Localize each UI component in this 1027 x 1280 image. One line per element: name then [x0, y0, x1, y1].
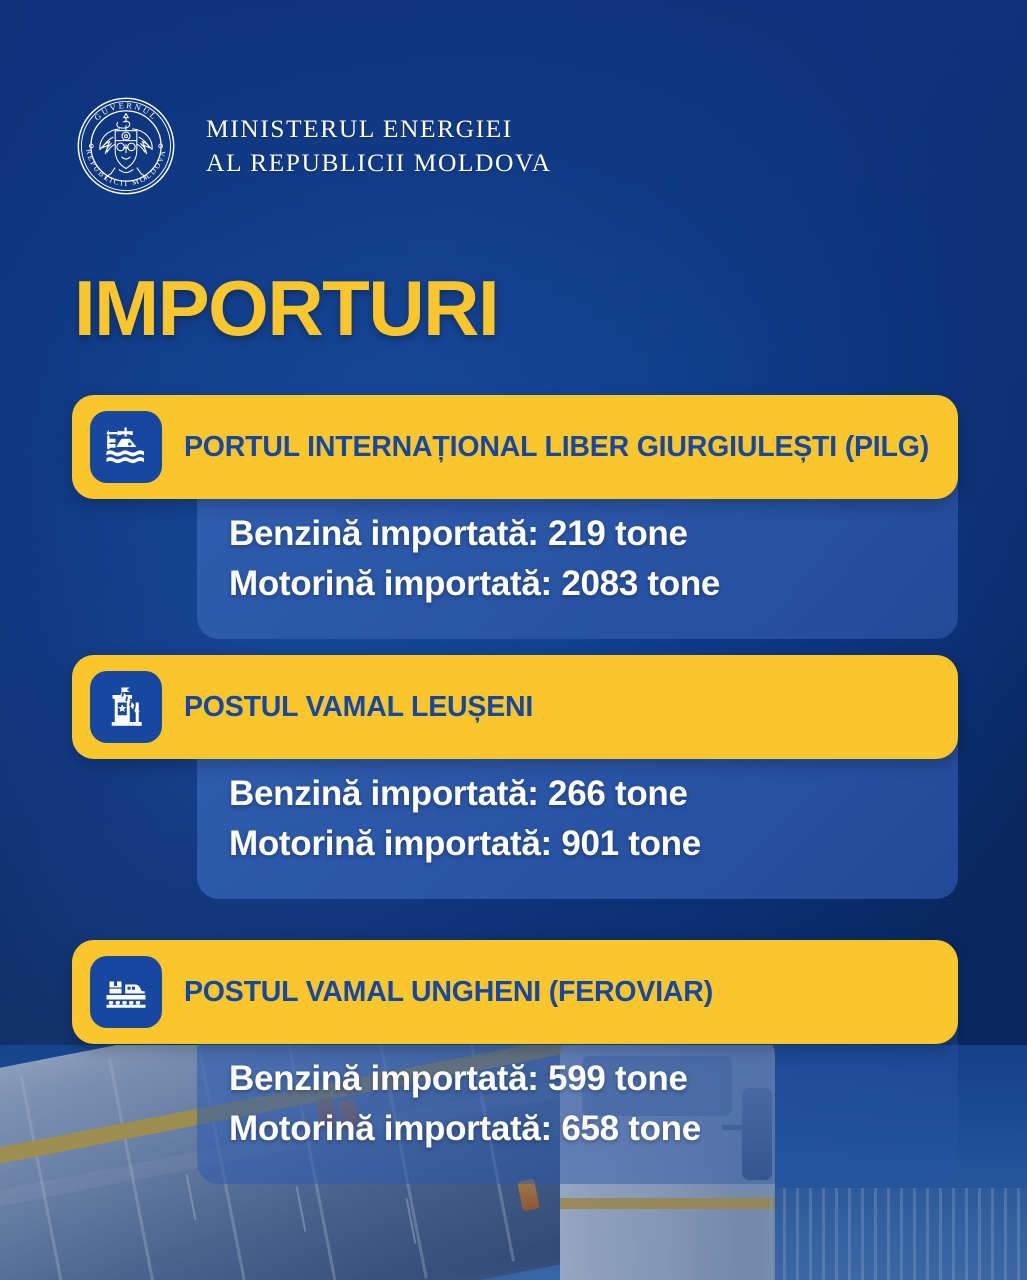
banner-leuseni[interactable]: POSTUL VAMAL LEUȘENI — [72, 655, 958, 759]
banner-title: POSTUL VAMAL LEUȘENI — [184, 691, 533, 724]
freight-train-icon — [90, 956, 162, 1028]
moldova-government-seal-icon: GUVERNUL REPUBLICII MOLDOVA — [72, 92, 180, 200]
ministry-line-2: AL REPUBLICII MOLDOVA — [206, 146, 552, 180]
metric-line-diesel: Motorină importată: 901 tone — [229, 819, 958, 869]
metric-line-diesel: Motorină importată: 2083 tone — [229, 559, 958, 609]
banner-ungheni[interactable]: POSTUL VAMAL UNGHENI (FEROVIAR) — [72, 940, 958, 1044]
banner-title: POSTUL VAMAL UNGHENI (FEROVIAR) — [184, 976, 713, 1009]
banner-pilg[interactable]: PORTUL INTERNAȚIONAL LIBER GIURGIULEȘTI … — [72, 395, 958, 499]
metric-line-diesel: Motorină importată: 658 tone — [229, 1104, 958, 1154]
ministry-name: MINISTERUL ENERGIEI AL REPUBLICII MOLDOV… — [206, 112, 552, 180]
header: GUVERNUL REPUBLICII MOLDOVA — [72, 92, 552, 200]
border-checkpoint-icon — [90, 671, 162, 743]
metric-line-petrol: Benzină importată: 599 tone — [229, 1054, 958, 1104]
cargo-ship-icon — [90, 411, 162, 483]
page-title: IMPORTURI — [74, 269, 498, 347]
metric-line-petrol: Benzină importată: 219 tone — [229, 509, 958, 559]
banner-title: PORTUL INTERNAȚIONAL LIBER GIURGIULEȘTI … — [184, 431, 929, 464]
ministry-line-1: MINISTERUL ENERGIEI — [206, 112, 552, 146]
metric-line-petrol: Benzină importată: 266 tone — [229, 769, 958, 819]
